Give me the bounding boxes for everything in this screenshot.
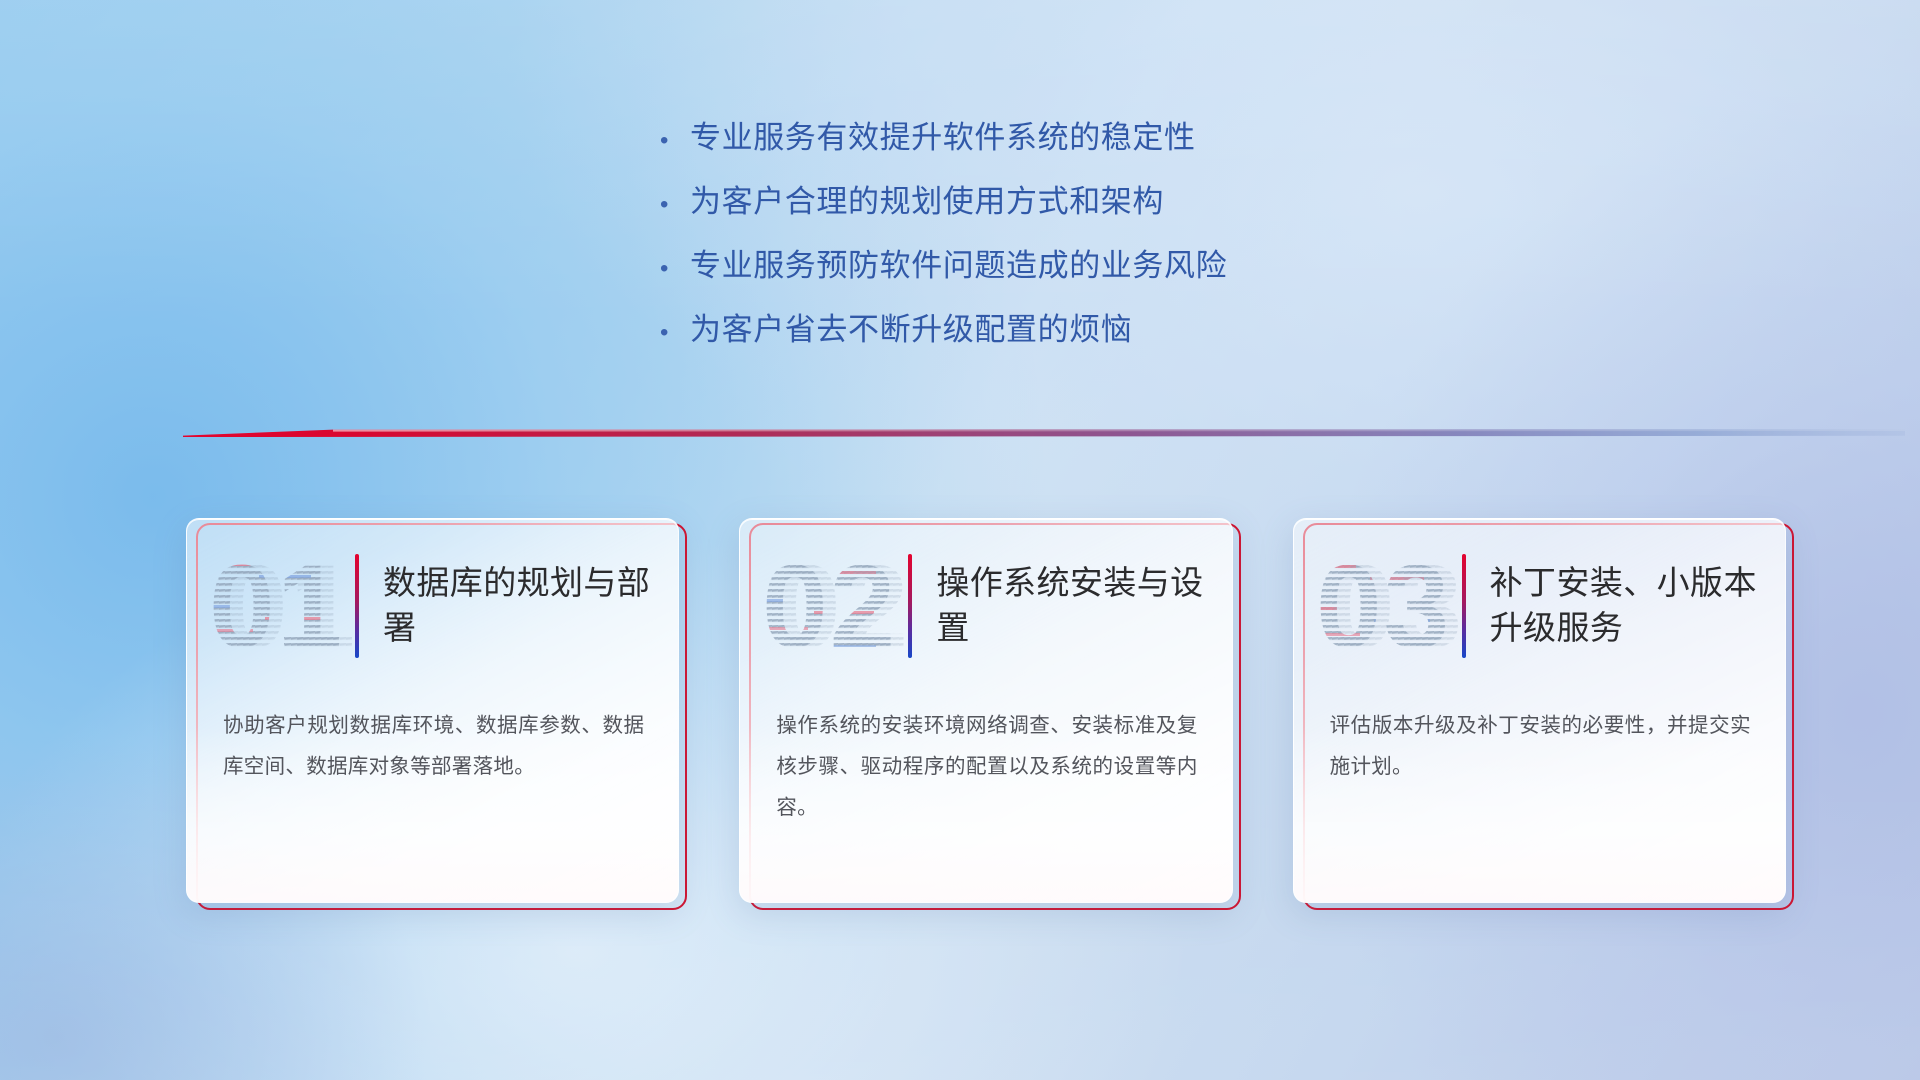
bullet-item: • 专业服务预防软件问题造成的业务风险 <box>660 240 1560 304</box>
card-surface: 03 <box>1293 518 1786 903</box>
bullet-marker-icon: • <box>660 257 690 281</box>
card-title: 数据库的规划与部署 <box>383 561 652 651</box>
bullet-text: 专业服务有效提升软件系统的稳定性 <box>690 112 1196 157</box>
card-header: 02 <box>740 519 1231 679</box>
card-accent-bar <box>908 554 912 658</box>
service-card-list: 01 <box>186 518 1786 903</box>
bullet-text: 为客户省去不断升级配置的烦恼 <box>690 304 1132 349</box>
card-number-03-icon: 03 <box>1314 547 1460 665</box>
bullet-text: 为客户合理的规划使用方式和架构 <box>690 176 1164 221</box>
card-header: 01 <box>187 519 678 679</box>
card-header: 03 <box>1294 519 1785 679</box>
slide-root: • 专业服务有效提升软件系统的稳定性 • 为客户合理的规划使用方式和架构 • 专… <box>0 0 1920 1080</box>
card-accent-bar <box>1462 554 1466 658</box>
card-body-text: 协助客户规划数据库环境、数据库参数、数据库空间、数据库对象等部署落地。 <box>223 705 644 787</box>
bullet-item: • 专业服务有效提升软件系统的稳定性 <box>660 112 1560 176</box>
service-card[interactable]: 03 <box>1293 518 1786 903</box>
bullet-text: 专业服务预防软件问题造成的业务风险 <box>690 240 1227 285</box>
bullet-marker-icon: • <box>660 321 690 345</box>
card-number-02-icon: 02 <box>760 547 906 665</box>
service-card[interactable]: 01 <box>186 518 679 903</box>
card-surface: 02 <box>739 518 1232 903</box>
bullet-item: • 为客户省去不断升级配置的烦恼 <box>660 304 1560 368</box>
card-accent-bar <box>355 554 359 658</box>
card-body-text: 操作系统的安装环境网络调查、安装标准及复核步骤、驱动程序的配置以及系统的设置等内… <box>776 705 1197 828</box>
card-surface: 01 <box>186 518 679 903</box>
service-card[interactable]: 02 <box>739 518 1232 903</box>
card-title: 操作系统安装与设置 <box>936 561 1205 651</box>
bullet-marker-icon: • <box>660 193 690 217</box>
section-divider <box>183 424 1905 442</box>
card-number-01-icon: 01 <box>207 547 353 665</box>
card-body-text: 评估版本升级及补丁安装的必要性，并提交实施计划。 <box>1330 705 1751 787</box>
card-title: 补丁安装、小版本升级服务 <box>1490 561 1759 651</box>
bullet-marker-icon: • <box>660 129 690 153</box>
benefits-bullet-list: • 专业服务有效提升软件系统的稳定性 • 为客户合理的规划使用方式和架构 • 专… <box>660 112 1560 368</box>
bullet-item: • 为客户合理的规划使用方式和架构 <box>660 176 1560 240</box>
